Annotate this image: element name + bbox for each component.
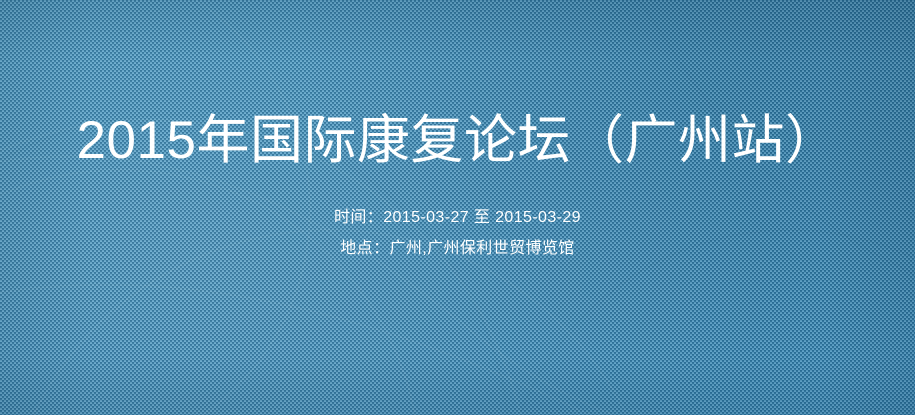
event-meta-block: 时间：2015-03-27 至 2015-03-29 地点：广州,广州保利世贸博… — [334, 202, 581, 264]
event-date-line: 时间：2015-03-27 至 2015-03-29 — [334, 202, 581, 233]
event-banner: 2015年国际康复论坛（广州站） 时间：2015-03-27 至 2015-03… — [0, 0, 915, 415]
banner-content: 2015年国际康复论坛（广州站） 时间：2015-03-27 至 2015-03… — [0, 0, 915, 415]
event-venue-line: 地点：广州,广州保利世贸博览馆 — [334, 233, 581, 264]
event-title: 2015年国际康复论坛（广州站） — [77, 111, 839, 172]
